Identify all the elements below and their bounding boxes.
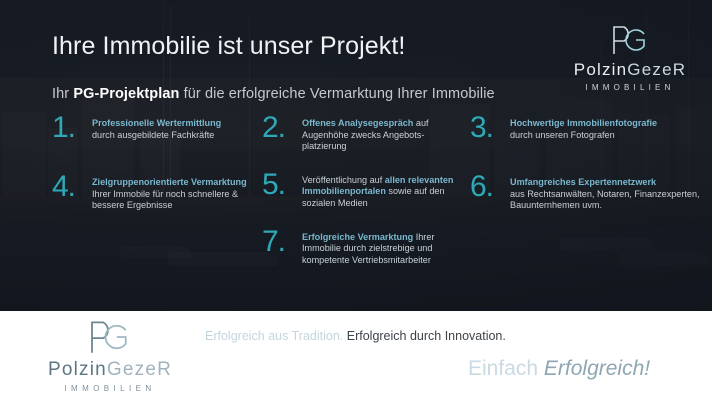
claim-prefix: Einfach xyxy=(468,357,544,380)
pg-monogram-icon xyxy=(608,24,652,56)
footer-claim: Einfach Erfolgreich! xyxy=(468,357,650,381)
step-item: 7. Erfolgreiche Vermarktung Ihrer Immobi… xyxy=(262,232,467,267)
subtitle-suffix: für die erfolgreiche Vermarktung Ihrer I… xyxy=(180,86,495,102)
brand-name-part1: Polzin xyxy=(574,60,628,79)
brand-name-part1: Polzin xyxy=(48,359,107,380)
step-text: Erfolgreiche Vermarktung Ihrer Immobilie… xyxy=(302,232,467,267)
footer-tagline: Erfolgreich aus Tradition. Erfolgreich d… xyxy=(205,329,506,343)
step-title: Offenes Analysegespräch xyxy=(302,118,413,128)
brand-logo-footer: PolzinGezeR IMMOBILIEN xyxy=(20,319,200,393)
brand-wordmark: PolzinGezeR xyxy=(20,360,200,379)
step-item: 5. Veröffentlichung auf allen relevanten… xyxy=(262,175,467,210)
steps-container: 1. Professionelle Wertermittlungdurch au… xyxy=(0,118,712,298)
brand-name-part2: GezeR xyxy=(627,60,686,79)
hero-section: Ihre Immobilie ist unser Projekt! Ihr PG… xyxy=(0,0,712,311)
step-number: 3. xyxy=(470,113,493,143)
step-description: aus Rechtsanwälten, Notaren, Finanzexper… xyxy=(510,189,700,211)
brand-name-part2: GezeR xyxy=(107,359,172,380)
step-number: 1. xyxy=(52,113,75,143)
step-item: 1. Professionelle Wertermittlungdurch au… xyxy=(52,118,257,141)
step-number: 7. xyxy=(262,227,285,257)
step-number: 6. xyxy=(470,172,493,202)
page-subtitle: Ihr PG-Projektplan für die erfolgreiche … xyxy=(52,86,495,102)
step-description: Ihrer Immobile für noch schnellere & bes… xyxy=(92,189,238,211)
steps-column-1: 1. Professionelle Wertermittlungdurch au… xyxy=(52,118,257,226)
step-text: Offenes Analysegespräch auf Augenhöhe zw… xyxy=(302,118,467,153)
brand-logo-hero: PolzinGezeR IMMOBILIEN xyxy=(556,24,704,92)
step-text: Umfangreiches Expertennetzwerk aus Recht… xyxy=(510,177,700,212)
step-title: Erfolgreiche Vermarktung xyxy=(302,232,413,242)
pg-monogram-icon xyxy=(85,319,135,355)
step-text: Zielgruppenorientierte Vermarktung Ihrer… xyxy=(92,177,257,212)
step-title: Zielgruppenorientierte Vermarktung xyxy=(92,177,247,187)
step-number: 5. xyxy=(262,170,285,200)
step-number: 2. xyxy=(262,113,285,143)
step-item: 2. Offenes Analysegespräch auf Augenhöhe… xyxy=(262,118,467,153)
tagline-tradition: Erfolgreich aus Tradition. xyxy=(205,329,343,343)
step-title: Professionelle Wertermittlung xyxy=(92,118,221,128)
step-description: durch ausgebildete Fachkräfte xyxy=(92,130,214,140)
subtitle-highlight: PG-Projektplan xyxy=(73,86,179,102)
step-text: Veröffentlichung auf allen relevanten Im… xyxy=(302,175,467,210)
brand-subtitle: IMMOBILIEN xyxy=(20,384,200,393)
claim-emphasis: Erfolgreich! xyxy=(544,357,650,380)
brand-wordmark: PolzinGezeR xyxy=(556,61,704,78)
steps-column-3: 3. Hochwertige Immobilienfotografiedurch… xyxy=(470,118,700,226)
slide-root: Ihre Immobilie ist unser Projekt! Ihr PG… xyxy=(0,0,712,400)
step-text: Professionelle Wertermittlungdurch ausge… xyxy=(92,118,257,141)
step-text: Hochwertige Immobilienfotografiedurch un… xyxy=(510,118,700,141)
step-number: 4. xyxy=(52,172,75,202)
step-description: durch unseren Fotografen xyxy=(510,130,615,140)
brand-subtitle: IMMOBILIEN xyxy=(556,83,704,92)
page-title: Ihre Immobilie ist unser Projekt! xyxy=(52,32,405,61)
tagline-innovation: Erfolgreich durch Innovation. xyxy=(343,329,506,343)
step-item: 4. Zielgruppenorientierte Vermarktung Ih… xyxy=(52,177,257,212)
subtitle-prefix: Ihr xyxy=(52,86,73,102)
step-title: Hochwertige Immobilienfotografie xyxy=(510,118,657,128)
steps-column-2: 2. Offenes Analysegespräch auf Augenhöhe… xyxy=(262,118,467,280)
step-item: 3. Hochwertige Immobilienfotografiedurch… xyxy=(470,118,700,141)
step-description-pre: Veröffentlichung auf xyxy=(302,175,385,185)
step-title: Umfangreiches Expertennetzwerk xyxy=(510,177,656,187)
footer-section: PolzinGezeR IMMOBILIEN xyxy=(0,311,712,400)
step-item: 6. Umfangreiches Expertennetzwerk aus Re… xyxy=(470,177,700,212)
